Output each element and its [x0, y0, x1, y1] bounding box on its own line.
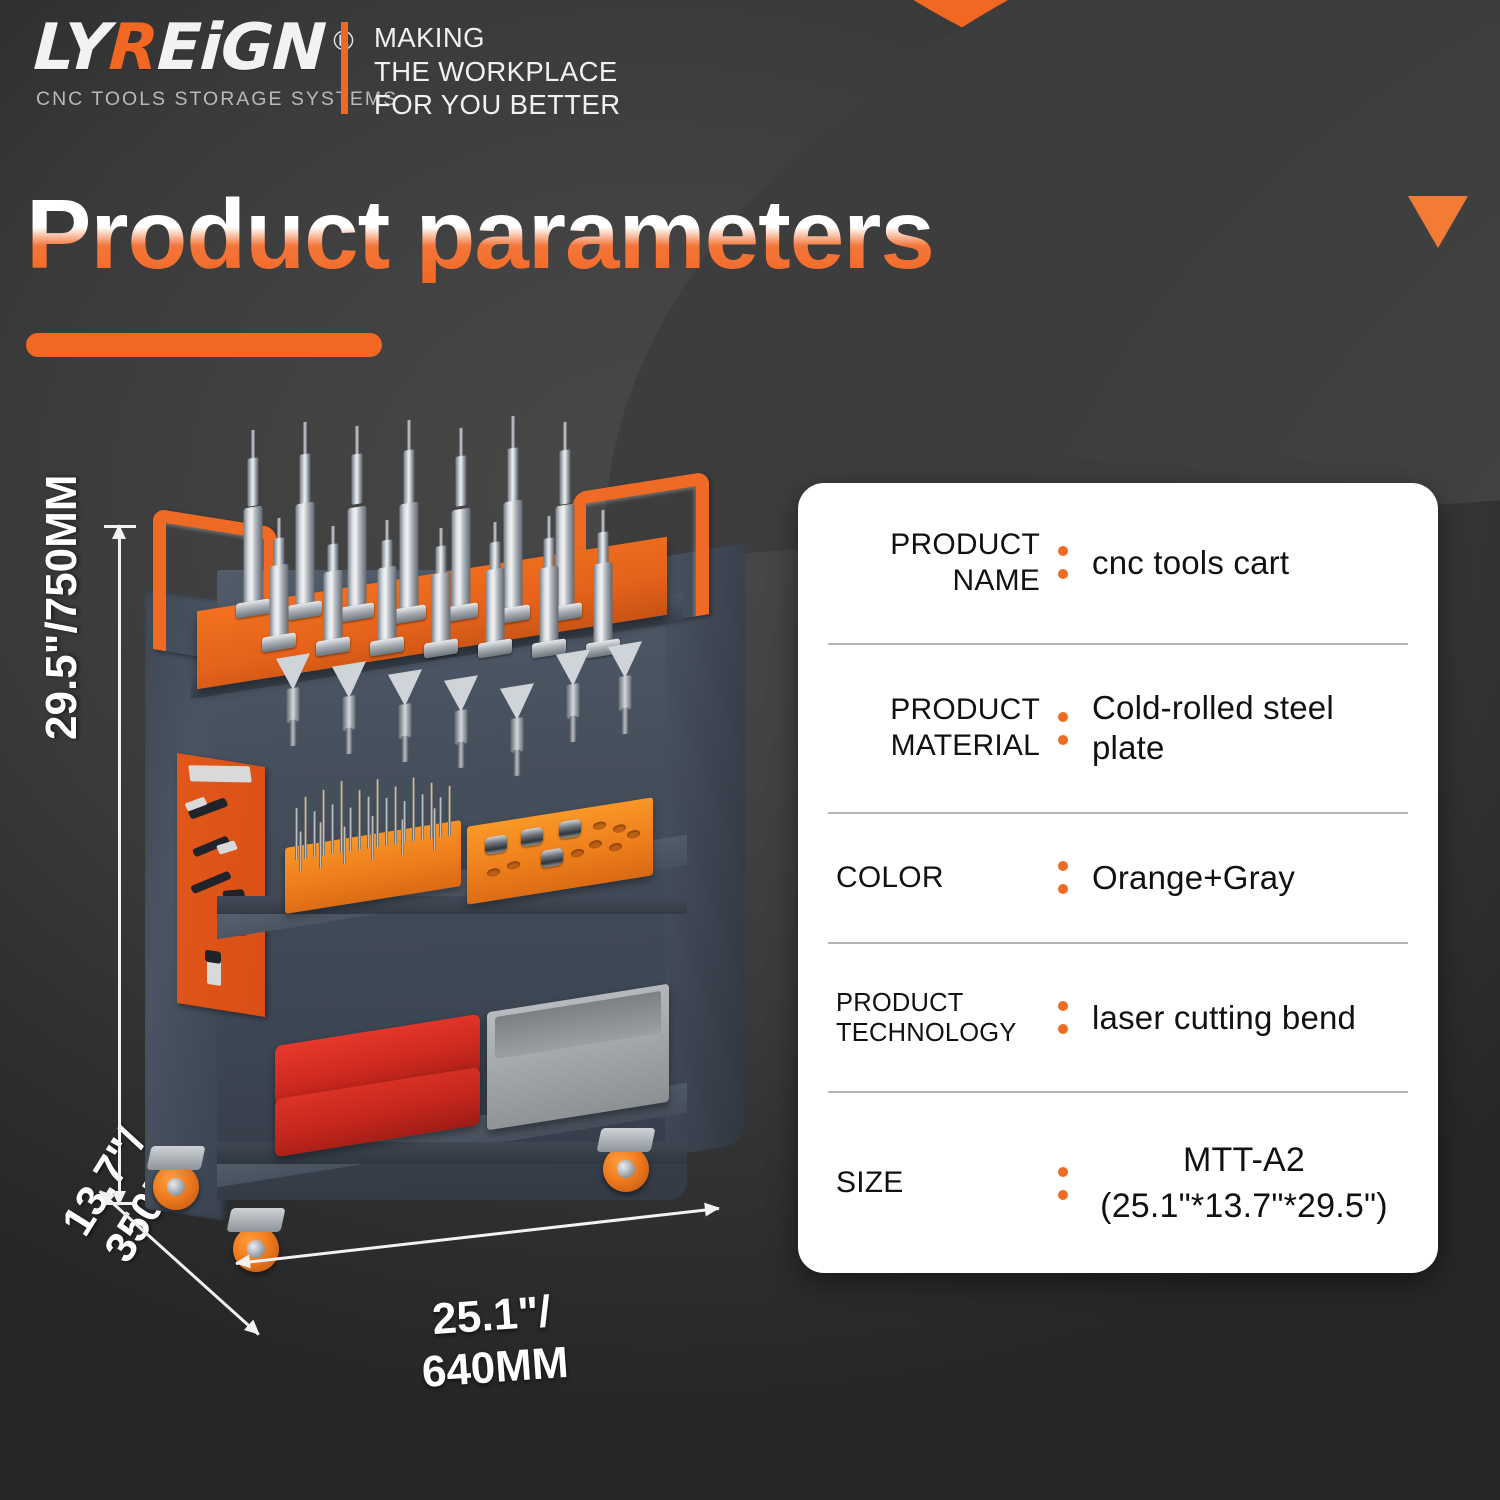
tool-holder [259, 515, 299, 653]
colon-separator-icon [1046, 861, 1080, 894]
header: LYREiGN ® CNC TOOLS STORAGE SYSTEMS MAKI… [0, 0, 1500, 140]
brand-logo: LYREiGN ® [34, 16, 325, 80]
hanging-tool-holder [273, 653, 313, 751]
dimension-label-height: 29.5"/750MM [38, 475, 86, 740]
spec-row-product-name: PRODUCT NAME cnc tools cart [828, 483, 1408, 643]
spec-label: SIZE [828, 1165, 1046, 1201]
page-title: Product parameters [26, 185, 934, 283]
tool-holder [583, 507, 623, 659]
brand-tagline: MAKING THE WORKPLACE FOR YOU BETTER [374, 21, 621, 122]
product-parameters-card: PRODUCT NAME cnc tools cart PRODUCT MATE… [798, 483, 1438, 1273]
colon-separator-icon [1046, 1167, 1080, 1200]
spec-row-product-technology: PRODUCT TECHNOLOGY laser cutting bend [828, 942, 1408, 1092]
hanging-tool-holder [441, 675, 481, 773]
triangle-down-icon [1408, 196, 1468, 248]
title-underline [26, 333, 382, 357]
tool-holder [475, 519, 515, 659]
tool-holder [313, 523, 353, 657]
caster-wheel-front-right [603, 1146, 649, 1192]
hanging-tool-holder [497, 683, 537, 781]
tool-holder [421, 525, 461, 659]
hanging-tool-holder [385, 669, 425, 767]
spec-label: PRODUCT MATERIAL [828, 692, 1046, 764]
spec-label: COLOR [828, 860, 1046, 896]
product-parameters-page: LYREiGN ® CNC TOOLS STORAGE SYSTEMS MAKI… [0, 0, 1500, 1500]
spec-value: Cold-rolled steel plate [1080, 688, 1408, 768]
spec-row-color: COLOR Orange+Gray [828, 812, 1408, 942]
colon-separator-icon [1046, 1001, 1080, 1034]
spec-value: laser cutting bend [1080, 998, 1408, 1038]
tool-holder [367, 517, 407, 657]
tool-holder [529, 513, 569, 659]
colon-separator-icon [1046, 546, 1080, 579]
dimension-line-height [118, 525, 120, 1205]
spec-row-size: SIZE MTT-A2 (25.1"*13.7"*29.5") [828, 1091, 1408, 1273]
colon-separator-icon [1046, 712, 1080, 745]
spec-value: cnc tools cart [1080, 543, 1408, 583]
hanging-tool-holder [329, 661, 369, 759]
spec-label: PRODUCT TECHNOLOGY [828, 988, 1046, 1048]
spec-label: PRODUCT NAME [828, 527, 1046, 599]
spec-value: MTT-A2 (25.1"*13.7"*29.5") [1080, 1137, 1408, 1229]
spec-value: Orange+Gray [1080, 858, 1408, 898]
hanging-tool-holder [553, 649, 593, 747]
logo-wordmark: LYREiGN [32, 16, 327, 80]
header-divider-bar [341, 22, 348, 114]
product-photo-cnc-tools-cart [105, 420, 795, 1320]
spec-row-product-material: PRODUCT MATERIAL Cold-rolled steel plate [828, 643, 1408, 813]
side-tool-board [177, 753, 265, 1017]
caster-wheel-front-left [153, 1164, 199, 1210]
hanging-tool-holder [605, 641, 645, 739]
